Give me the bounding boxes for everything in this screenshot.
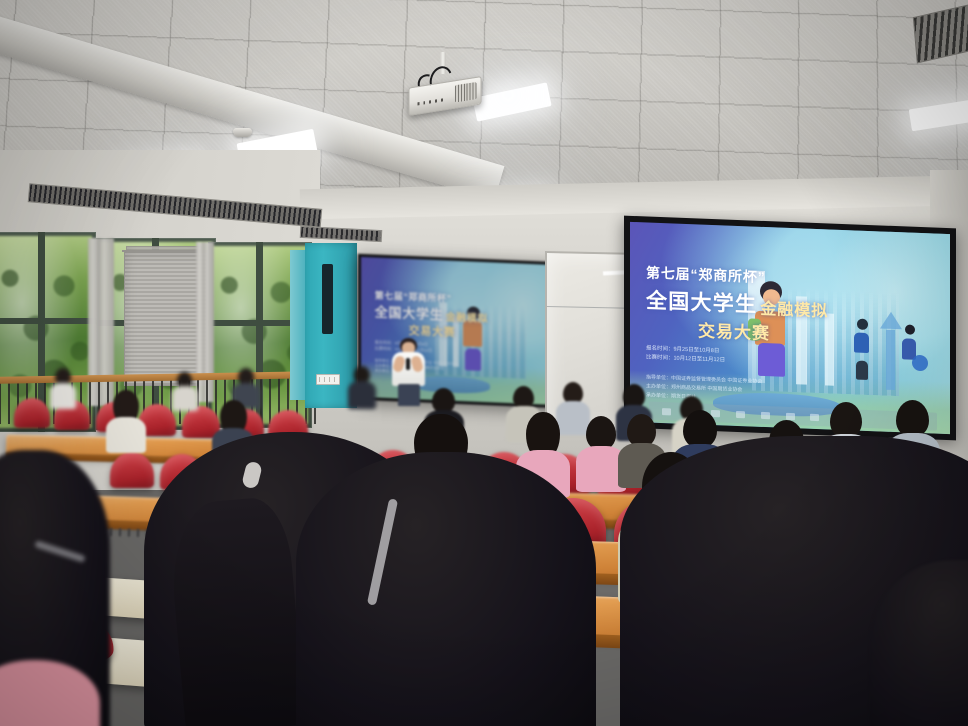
- taskbar-icon[interactable]: [736, 410, 745, 417]
- poster-title-line2: 全国大学生: [646, 284, 757, 318]
- taskbar-icon[interactable]: [761, 411, 770, 418]
- poster-title-accent2: 交易大赛: [698, 316, 828, 346]
- poster-title-block: 第七届“郑商所杯” 全国大学生 金融模拟 交易大赛 报名时间：9月25日至10月…: [646, 262, 828, 405]
- seated-audience-member: [348, 366, 376, 408]
- poster-title-accent1: 金融模拟: [446, 308, 488, 325]
- projector-buttons: [417, 98, 443, 105]
- poster-title-accent1: 金融模拟: [760, 295, 828, 322]
- taskbar-icon[interactable]: [786, 412, 795, 419]
- foreground-person-right: [296, 452, 596, 726]
- poster-figure-legs: [856, 361, 868, 380]
- poster-badge-circle: [912, 355, 928, 372]
- light-switch-plate[interactable]: [316, 374, 340, 385]
- window-mullion: [0, 318, 96, 324]
- microphone-icon: [406, 358, 410, 370]
- ceiling-projector-right: [396, 52, 492, 118]
- lecture-hall-photo: 第七届“郑商所杯” 全国大学生 金融模拟 交易大赛 报名时间：9月25日至10月…: [0, 0, 968, 726]
- projector-vent-grill: [455, 82, 477, 103]
- seated-audience-member: [106, 390, 146, 450]
- poster-up-arrow-icon: [880, 311, 902, 329]
- seated-audience-member: [50, 368, 76, 408]
- wall-panel-dark: [322, 264, 333, 334]
- presenter-trousers: [398, 384, 420, 406]
- smoke-detector-icon: [233, 128, 252, 137]
- poster-figure-body: [854, 332, 869, 353]
- poster-title-line2: 全国大学生: [375, 301, 444, 323]
- poster-up-arrow-stem: [886, 330, 895, 390]
- seated-audience-member: [172, 372, 198, 410]
